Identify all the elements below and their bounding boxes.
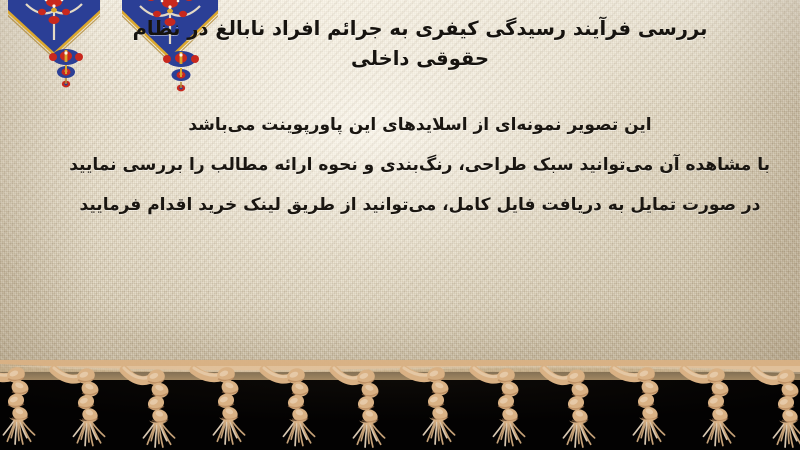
slide-body-line-1: این تصویر نمونه‌ای از اسلایدهای این پاور… — [70, 106, 770, 146]
slide-body-line-2: با مشاهده آن می‌توانید سبک طراحی، رنگ‌بن… — [70, 146, 770, 186]
slide-title-line-1: بررسی فرآیند رسیدگی کیفری به جرائم افراد… — [70, 14, 770, 44]
slide-title: بررسی فرآیند رسیدگی کیفری به جرائم افراد… — [70, 14, 770, 73]
slide-body: این تصویر نمونه‌ای از اسلایدهای این پاور… — [70, 106, 770, 226]
bottom-black-band — [0, 372, 800, 450]
slide-title-line-2: حقوقی داخلی — [70, 44, 770, 74]
slide-canvas: بررسی فرآیند رسیدگی کیفری به جرائم افراد… — [0, 0, 800, 450]
slide-text-layer: بررسی فرآیند رسیدگی کیفری به جرائم افراد… — [0, 0, 800, 372]
slide-body-line-3: در صورت تمایل به دریافت فایل کامل، می‌تو… — [70, 186, 770, 226]
